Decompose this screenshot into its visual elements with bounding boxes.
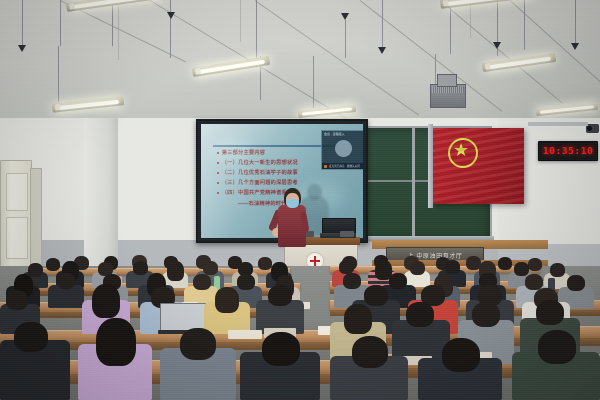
- slide-heading: 第三部分主要内容: [217, 149, 298, 156]
- flag-emblem-ring: [448, 138, 478, 168]
- camera-lens-icon: [587, 126, 592, 131]
- bullet-dot: [217, 152, 219, 154]
- hanging-cable: [345, 20, 346, 58]
- lamp-cap: [55, 104, 61, 110]
- hanging-cable: [58, 46, 59, 102]
- lamp-cap: [485, 63, 491, 70]
- hanging-cable: [313, 56, 314, 108]
- screen-glare: [211, 138, 251, 160]
- flag-pole: [428, 124, 433, 208]
- bullet-dot: [217, 192, 219, 194]
- student-head: [472, 302, 500, 327]
- student-hair: [167, 261, 184, 281]
- lamp-cap: [69, 3, 75, 10]
- lamp-cap: [195, 68, 201, 75]
- lamp-cap: [443, 0, 449, 6]
- student-hair: [92, 284, 120, 318]
- student-head: [258, 257, 272, 270]
- student-head: [193, 274, 211, 290]
- student-head: [14, 322, 48, 352]
- student-head: [57, 273, 75, 289]
- student-head: [237, 274, 255, 290]
- cable-cone: [167, 12, 175, 19]
- hanging-cable: [170, 0, 171, 58]
- cable-cone: [493, 42, 501, 49]
- notebook: [228, 330, 262, 339]
- slide-bullet: （二）几位优秀石油学子的故事: [217, 169, 298, 176]
- student-head: [6, 290, 28, 310]
- student-hair: [215, 287, 239, 313]
- speaker-shadow-head: [307, 184, 322, 200]
- student-head: [538, 330, 576, 364]
- slide-bullet: （三）几个方面问题的深层思考: [217, 179, 298, 186]
- ceiling-panel-line: [118, 0, 119, 60]
- student-head: [406, 302, 434, 327]
- wall-ac-unit: [430, 84, 466, 108]
- student-head: [498, 257, 512, 270]
- hanging-cable: [256, 0, 257, 60]
- bullet-dot: [217, 172, 219, 174]
- clock-time: 10:35:10: [543, 146, 594, 157]
- hanging-cable: [575, 0, 576, 44]
- video-call-window[interactable]: 会议 · 远程接入 麦克风已静音 · 摄像头关闭: [321, 130, 363, 170]
- video-call-avatar: [335, 140, 352, 157]
- video-call-statusbar: 麦克风已静音 · 摄像头关闭: [322, 163, 363, 169]
- student-head: [343, 273, 361, 289]
- hanging-cable: [524, 0, 525, 50]
- mute-indicator-icon: [324, 165, 327, 168]
- camera-rail: [528, 122, 588, 126]
- cable-cone: [341, 13, 349, 20]
- hanging-cable: [382, 0, 383, 48]
- student-hair: [344, 304, 372, 334]
- door-jamb: [30, 168, 42, 270]
- cable-cone: [18, 45, 26, 52]
- cable-cone: [378, 47, 386, 54]
- ac-vent: [437, 74, 457, 87]
- communist-youth-league-flag: ★: [432, 128, 524, 204]
- blackboard-divider: [412, 126, 415, 238]
- student-head: [389, 273, 407, 289]
- hanging-cable: [22, 0, 23, 46]
- student-head: [364, 285, 388, 306]
- video-call-status: 麦克风已静音 · 摄像头关闭: [329, 164, 360, 168]
- student-head: [550, 263, 565, 277]
- video-call-title: 会议 · 远程接入: [324, 132, 345, 136]
- student-head: [133, 261, 148, 275]
- cable-cone: [571, 43, 579, 50]
- door-panel: [6, 173, 28, 211]
- student-head: [339, 260, 354, 274]
- desk-equipment: [340, 231, 354, 237]
- ceiling-panel-line: [470, 0, 471, 38]
- student-head: [352, 336, 388, 368]
- student-head: [28, 263, 43, 277]
- student-head: [180, 328, 216, 360]
- ac-grill: [432, 86, 464, 93]
- slide-bullet: （一）几位大一新生的思想状况: [217, 159, 298, 166]
- emblem-mark: [310, 260, 320, 262]
- digital-clock: 10:35:10: [538, 141, 598, 161]
- student-head: [536, 300, 564, 325]
- student-hair: [96, 318, 136, 366]
- student-head: [410, 261, 425, 275]
- student-head: [46, 258, 60, 271]
- door-panel: [6, 217, 28, 259]
- ceiling-panel-line: [240, 0, 241, 42]
- bullet-dot: [217, 162, 219, 164]
- flag-star-icon: ★: [453, 141, 469, 159]
- student-head: [514, 262, 529, 276]
- student-head: [262, 332, 300, 366]
- hanging-cable: [450, 0, 451, 54]
- speaker-face-mask: [286, 199, 299, 208]
- hanging-cable: [60, 0, 61, 46]
- student-head: [445, 260, 460, 274]
- lecture-hall-photo: ★ 第三部分主要内容 （一）几位大一新生的思想状况 （二）几位优秀石油学子的故事: [0, 0, 600, 400]
- student-head: [203, 261, 218, 275]
- student-head: [442, 338, 480, 372]
- wall-pillar: [84, 118, 118, 266]
- hanging-cable: [112, 0, 113, 46]
- student-head: [528, 258, 542, 271]
- student-head: [567, 275, 585, 291]
- bullet-dot: [217, 182, 219, 184]
- slide-divider-rule: [213, 145, 337, 147]
- student-head: [268, 285, 292, 306]
- classroom-door[interactable]: [0, 160, 32, 272]
